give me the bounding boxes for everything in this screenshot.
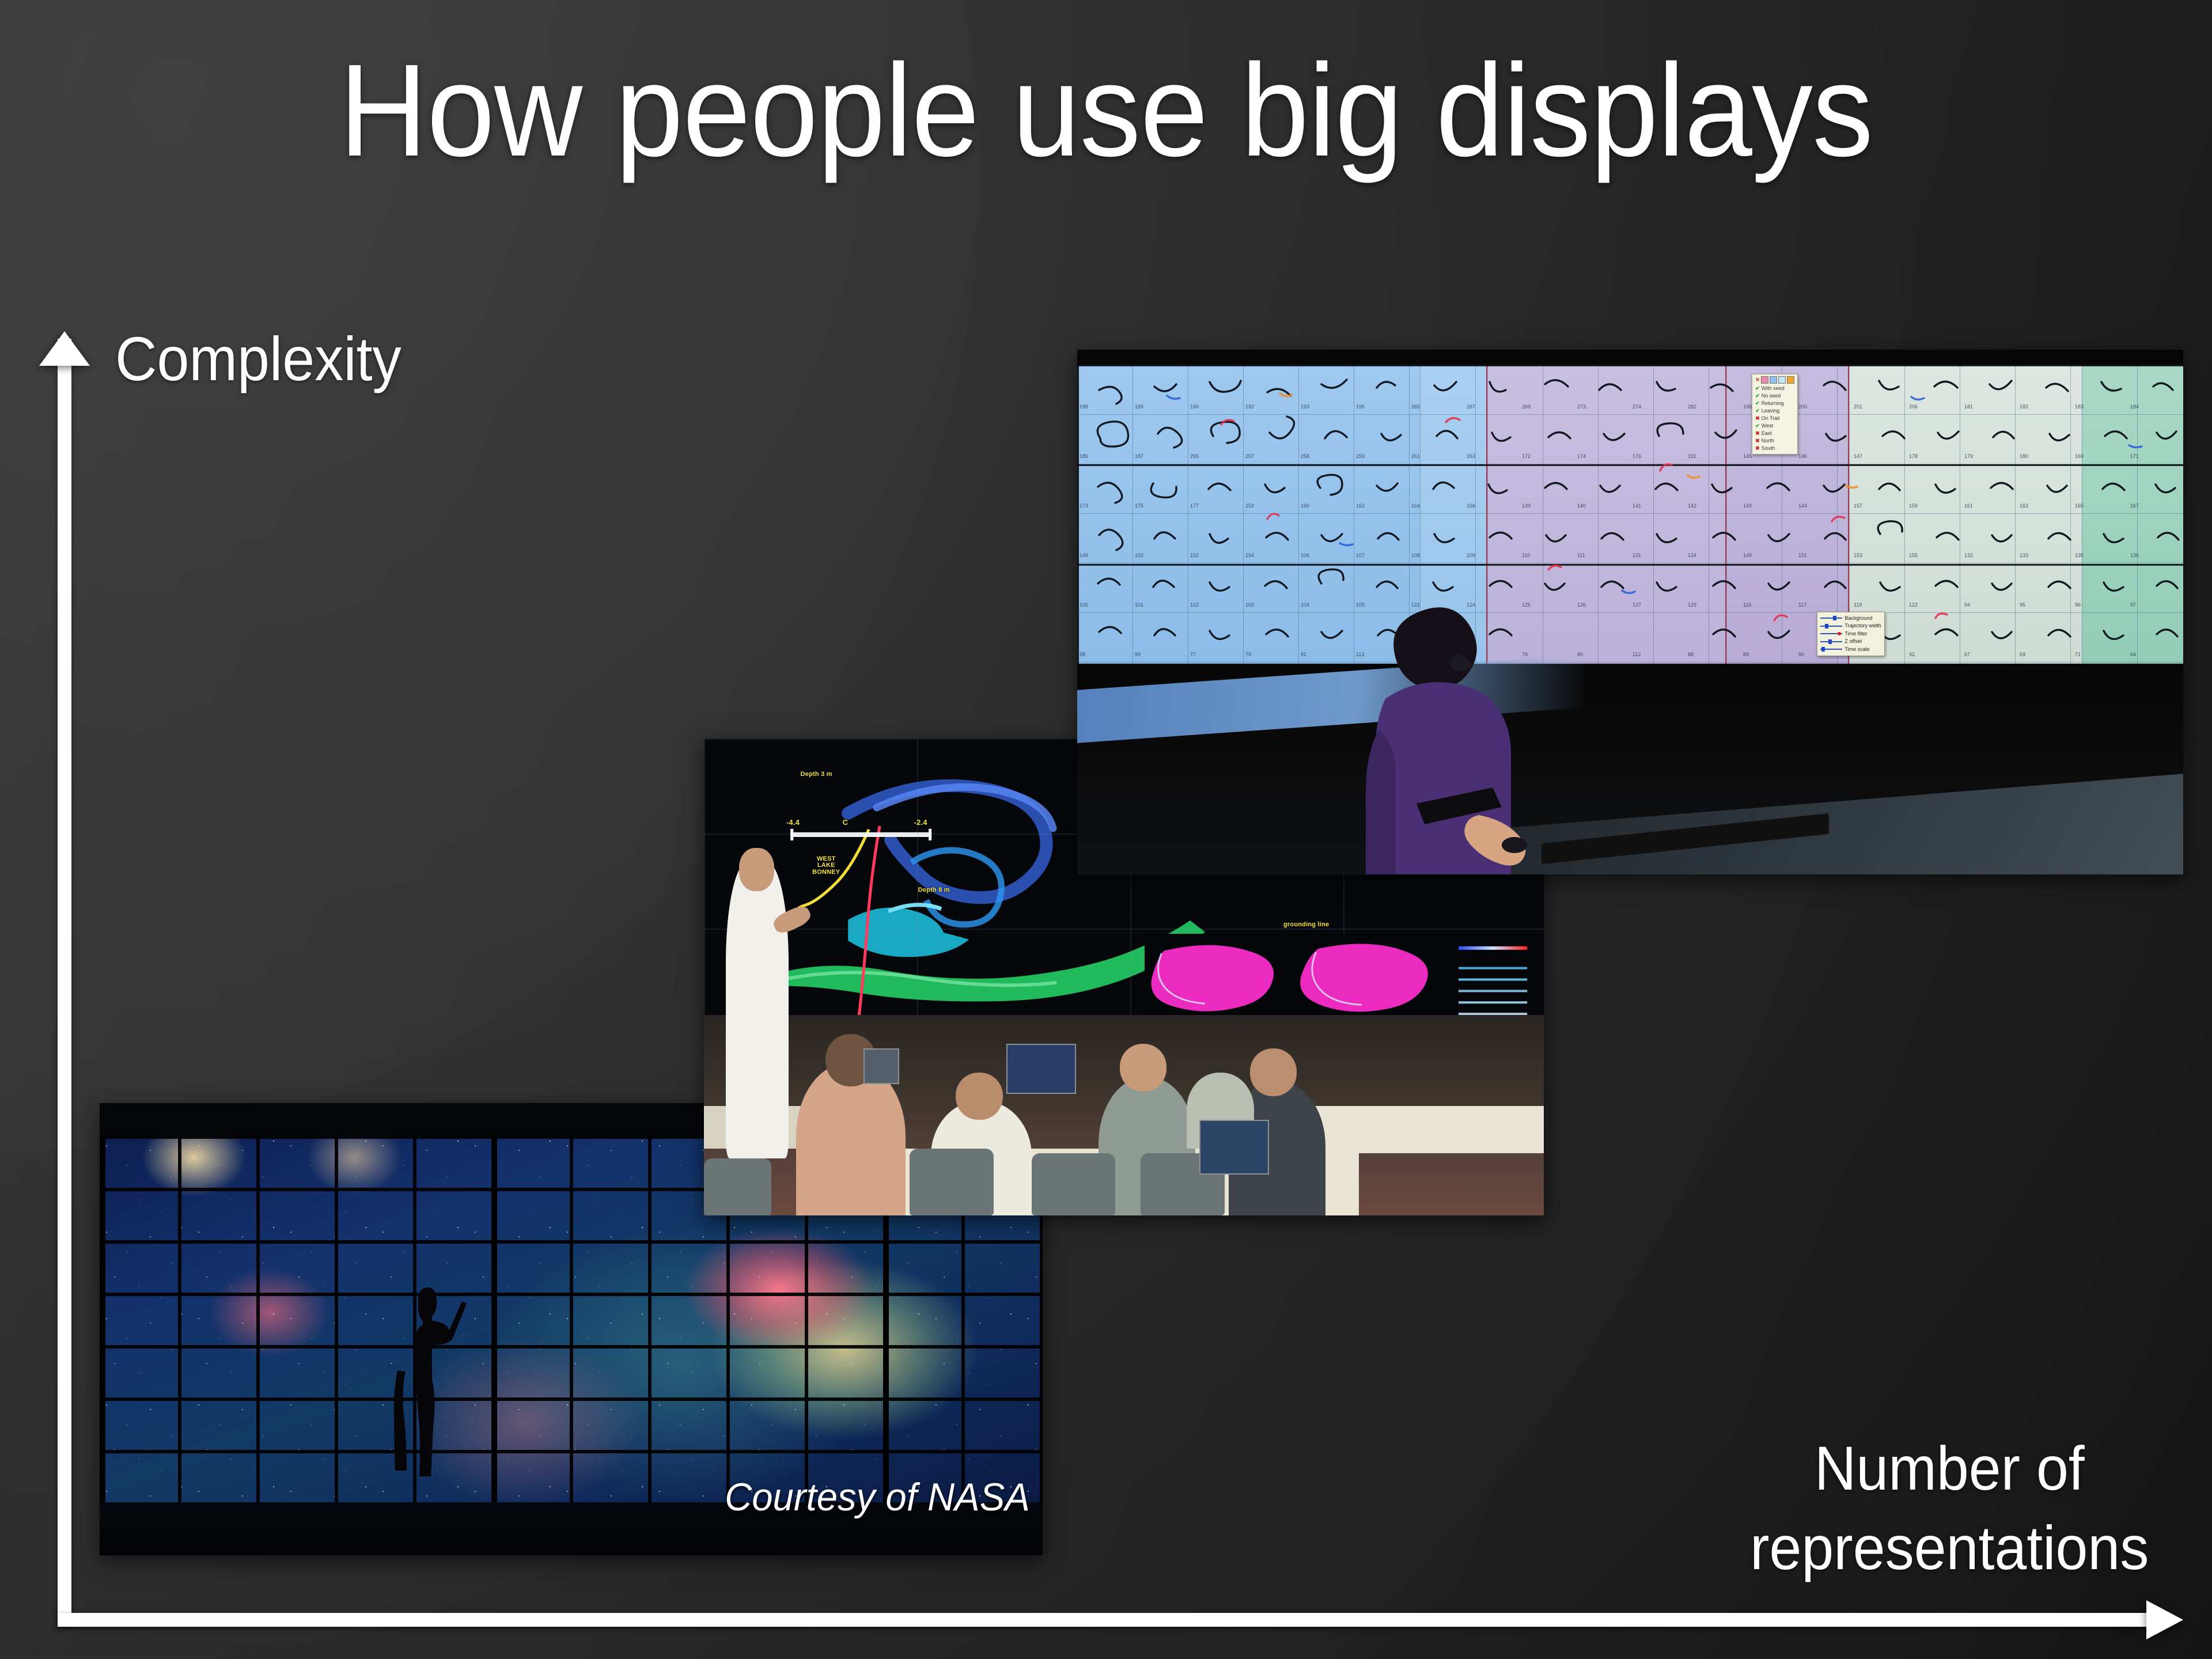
trajectory-cell-number: 132: [1964, 552, 1973, 558]
trajectory-cell-number: 269: [1522, 404, 1531, 410]
check-icon[interactable]: ✔: [1755, 407, 1760, 415]
trajectory-cell-number: 184: [2130, 404, 2139, 410]
trajectory-cell-number: 191: [1688, 453, 1696, 459]
check-icon[interactable]: ✔: [1755, 392, 1760, 400]
filter-item-label: East: [1762, 430, 1772, 437]
cross-icon[interactable]: ✖: [1755, 445, 1760, 452]
trajectory-wall-top-bezel: [1077, 350, 2183, 365]
trajectory-cell-number: 112: [1633, 652, 1641, 657]
filter-item-label: South: [1762, 445, 1775, 452]
slider-track-time-scale[interactable]: [1820, 649, 1842, 650]
control-room-chair-1: [910, 1149, 994, 1215]
x-axis-label-line1: Number of: [1750, 1429, 2149, 1508]
trajectory-cell-number: 146: [1798, 453, 1807, 459]
nasa-person-silhouette: [382, 1275, 469, 1528]
trajectory-cell-number: 108: [1411, 552, 1420, 558]
y-axis-label: Complexity: [115, 323, 402, 395]
filter-item[interactable]: ✔With seed: [1755, 385, 1794, 392]
slider-track-z-offset[interactable]: [1820, 641, 1842, 642]
trajectory-cell-number: 89: [1743, 652, 1749, 657]
trajectory-cell-number: 126: [1577, 602, 1586, 608]
trajectory-cell-number: 200: [1798, 404, 1807, 410]
control-room-monitor-1: [1006, 1044, 1076, 1094]
trajectory-cell-number: 188: [1080, 404, 1088, 410]
trajectory-cell-number: 164: [1411, 503, 1420, 509]
trajectory-cell-number: 135: [2075, 552, 2084, 558]
filter-item[interactable]: ✔Returning: [1755, 400, 1794, 407]
trajectory-cell-number: 119: [1854, 602, 1862, 608]
trajectory-cell-number: 267: [1467, 404, 1475, 410]
trajectory-cell-number: 257: [1245, 453, 1254, 459]
slider-row-time-scale[interactable]: Time scale: [1820, 646, 1881, 654]
trajectory-cell-number: 129: [1688, 602, 1696, 608]
trajectory-cell-number: 77: [1190, 652, 1196, 657]
trajectory-cell-number: 189: [1135, 404, 1143, 410]
trajectory-cell-number: 178: [1909, 453, 1918, 459]
trajectory-cell-number: 166: [1467, 503, 1475, 509]
filter-item-label: On Trail: [1762, 415, 1780, 422]
control-room-chair-4: [704, 1158, 771, 1215]
trajectory-cell-number: 172: [1522, 453, 1531, 459]
slider-label-time-filter: Time filter: [1844, 630, 1867, 638]
slide-title: How people use big displays: [77, 45, 2134, 176]
trajectory-cell-number: 253: [1245, 503, 1254, 509]
trajectory-cell-number: 201: [1854, 404, 1862, 410]
trajectory-cell-number: 157: [1854, 503, 1862, 509]
trajectory-cell-number: 147: [1854, 453, 1862, 459]
filter-swatch-orange[interactable]: [1787, 376, 1794, 384]
trajectory-cell-number: 177: [1190, 503, 1199, 509]
x-axis-label: Number of representations: [1750, 1429, 2149, 1588]
filter-swatch-lightblue[interactable]: [1778, 376, 1786, 384]
trajectory-cell-number: 181: [1964, 404, 1973, 410]
photo-trajectory-wall: 1881891901921931952652672692732742821982…: [1077, 350, 2183, 874]
trajectory-filter-panel: ✕ ✔With seed✔No seed✔Returning✔Leaving✖O…: [1752, 374, 1798, 454]
trajectory-cell-number: 142: [1688, 503, 1696, 509]
trajectory-cell-number: 186: [1080, 453, 1088, 459]
trajectory-cell-number: 100: [1080, 602, 1088, 608]
trajectory-cell-number: 88: [1688, 652, 1694, 657]
trajectory-cell-number: 136: [2130, 552, 2139, 558]
control-room-presenter-head: [739, 848, 774, 891]
trajectory-cell-number: 173: [1080, 503, 1088, 509]
y-axis-shaft: [58, 339, 71, 1626]
filter-swatch-pink[interactable]: [1761, 376, 1768, 384]
slider-row-z-offset[interactable]: Z offset: [1820, 638, 1881, 646]
filter-swatch-close-icon[interactable]: ✕: [1755, 376, 1760, 384]
filter-item-label: Returning: [1762, 400, 1784, 407]
trajectory-cell-number: 206: [1909, 404, 1918, 410]
trajectory-cell-number: 195: [1356, 404, 1365, 410]
trajectory-cell-number: 161: [1964, 503, 1973, 509]
slider-track-background[interactable]: [1820, 618, 1842, 619]
arrow-up-icon: [39, 331, 90, 366]
trajectory-cell-number: 127: [1633, 602, 1641, 608]
trajectory-cell-number: 103: [1245, 602, 1254, 608]
check-icon[interactable]: ✔: [1755, 400, 1760, 407]
slider-track-trajectory-width[interactable]: [1820, 626, 1842, 627]
trajectory-cell-number: 259: [1356, 453, 1365, 459]
trajectory-cell-number: 187: [1135, 453, 1143, 459]
trajectory-cell-number: 81: [1301, 652, 1306, 657]
trajectory-cell-number: 92: [1909, 652, 1915, 657]
slider-label-time-scale: Time scale: [1844, 646, 1869, 654]
control-room-person-4-head: [1250, 1048, 1297, 1096]
slide-root: How people use big displays Complexity N…: [0, 0, 2212, 1659]
trajectory-cell-number: 104: [1301, 602, 1309, 608]
trajectory-cell-number: 192: [1245, 404, 1254, 410]
arrow-right-icon: [2146, 1600, 2183, 1639]
trajectory-cell-number: 174: [1577, 453, 1586, 459]
filter-swatch-blue[interactable]: [1770, 376, 1777, 384]
trajectory-cell-number: 198: [1743, 404, 1752, 410]
trajectory-cell-number: 110: [1522, 552, 1530, 558]
trajectory-cell-number: 97: [2130, 602, 2136, 608]
trajectory-cell-number: 64: [2130, 652, 2136, 657]
trajectory-cell-number: 167: [2130, 503, 2139, 509]
trajectory-cell-number: 133: [2020, 552, 2028, 558]
trajectory-cell-number: 150: [1135, 552, 1143, 558]
slider-track-time-filter[interactable]: [1820, 633, 1842, 634]
trajectory-cell-number: 183: [2075, 404, 2084, 410]
control-room-presenter-body: [726, 862, 789, 1158]
filter-item-label: No seed: [1762, 392, 1781, 400]
trajectory-cell-number: 131: [1633, 552, 1641, 558]
check-icon[interactable]: ✔: [1755, 385, 1760, 392]
filter-item[interactable]: ✔No seed: [1755, 392, 1794, 400]
trajectory-cell-number: 282: [1688, 404, 1696, 410]
trajectory-cell-number: 258: [1301, 453, 1309, 459]
filter-item-label: North: [1762, 437, 1774, 445]
trajectory-cell-number: 90: [1798, 652, 1804, 657]
trajectory-cell-number: 149: [1743, 552, 1752, 558]
trajectory-cell-number: 111: [1577, 552, 1585, 558]
control-room-person-2-head: [956, 1073, 1003, 1120]
trajectory-cell-number: 117: [1798, 602, 1806, 608]
trajectory-cell-number: 159: [1909, 503, 1918, 509]
trajectory-paths: [1077, 365, 2183, 664]
control-room-person-3-head: [1120, 1044, 1167, 1092]
trajectory-cell-number: 71: [2075, 652, 2081, 657]
trajectory-cell-number: 154: [1245, 552, 1254, 558]
filter-item-label: With seed: [1762, 385, 1785, 392]
trajectory-cell-number: 265: [1411, 404, 1420, 410]
filter-item[interactable]: ✖East: [1755, 430, 1794, 437]
trajectory-cell-number: 107: [1356, 552, 1365, 558]
control-room-chair-2: [1032, 1153, 1116, 1215]
trajectory-cell-number: 155: [1909, 552, 1918, 558]
slider-label-trajectory-width: Trajectory width: [1844, 622, 1881, 630]
trajectory-cell-number: 169: [2075, 453, 2084, 459]
trajectory-cell-number: 79: [1245, 652, 1251, 657]
trajectory-cell-number: 140: [1577, 503, 1586, 509]
filter-item[interactable]: ✔Leaving: [1755, 407, 1794, 415]
trajectory-cell-number: 145: [1743, 453, 1752, 459]
trajectory-cell-number: 162: [1356, 503, 1365, 509]
slider-row-trajectory-width[interactable]: Trajectory width: [1820, 622, 1881, 630]
x-axis-label-line2: representations: [1750, 1508, 2149, 1588]
filter-item[interactable]: ✔West: [1755, 422, 1794, 430]
trajectory-cell-number: 141: [1633, 503, 1641, 509]
trajectory-cell-number: 109: [1467, 552, 1475, 558]
trajectory-cell-number: 152: [1190, 552, 1199, 558]
trajectory-cell-number: 151: [1798, 552, 1807, 558]
trajectory-cell-number: 106: [1301, 552, 1309, 558]
trajectory-cell-number: 69: [2020, 652, 2025, 657]
trajectory-cell-number: 261: [1411, 453, 1420, 459]
trajectory-cell-number: 163: [2020, 503, 2028, 509]
trajectory-cell-number: 139: [1522, 503, 1531, 509]
control-room-monitor-2: [863, 1048, 899, 1084]
trajectory-cell-number: 273: [1577, 404, 1586, 410]
cross-icon[interactable]: ✖: [1755, 415, 1760, 422]
check-icon[interactable]: ✔: [1755, 422, 1760, 430]
trajectory-cell-number: 179: [1964, 453, 1973, 459]
trajectory-cell-number: 190: [1190, 404, 1199, 410]
trajectory-cell-number: 67: [1964, 652, 1970, 657]
trajectory-cell-number: 101: [1135, 602, 1143, 608]
slider-row-time-filter[interactable]: Time filter: [1820, 630, 1881, 638]
filter-item-label: West: [1762, 422, 1773, 430]
cross-icon[interactable]: ✖: [1755, 437, 1760, 445]
filter-item[interactable]: ✖On Trail: [1755, 415, 1794, 422]
trajectory-cell-number: 263: [1467, 453, 1475, 459]
trajectory-cell-number: 176: [1633, 453, 1641, 459]
trajectory-wall-screens: 1881891901921931952652672692732742821982…: [1077, 365, 2183, 664]
trajectory-cell-number: 144: [1798, 503, 1807, 509]
filter-swatches: ✕: [1755, 376, 1794, 384]
slider-label-z-offset: Z offset: [1844, 638, 1862, 646]
nasa-caption: Courtesy of NASA: [725, 1475, 1030, 1520]
filter-item[interactable]: ✖South: [1755, 445, 1794, 452]
trajectory-cell-number: 180: [2020, 453, 2028, 459]
trajectory-cell-number: 102: [1190, 602, 1199, 608]
filter-item[interactable]: ✖North: [1755, 437, 1794, 445]
trajectory-cell-number: 134: [1688, 552, 1696, 558]
x-axis-shaft: [58, 1613, 2154, 1627]
trajectory-cell-number: 116: [1743, 602, 1751, 608]
trajectory-cell-number: 98: [1080, 652, 1085, 657]
control-room-laptop-1: [1199, 1120, 1269, 1175]
trajectory-cell-number: 255: [1190, 453, 1199, 459]
trajectory-cell-number: 96: [2075, 602, 2081, 608]
trajectory-cell-number: 122: [1909, 602, 1918, 608]
trajectory-cell-number: 175: [1135, 503, 1143, 509]
trajectory-cell-number: 171: [2130, 453, 2139, 459]
trajectory-slider-panel: Background Trajectory width Time filter …: [1817, 612, 1884, 657]
trajectory-cell-number: 182: [2020, 404, 2028, 410]
filter-items: ✔With seed✔No seed✔Returning✔Leaving✖On …: [1755, 385, 1794, 452]
slider-row-background[interactable]: Background: [1820, 615, 1881, 623]
trajectory-cell-number: 143: [1743, 503, 1752, 509]
filter-item-label: Leaving: [1762, 407, 1780, 415]
trajectory-cell-number: 95: [2020, 602, 2025, 608]
trajectory-cell-number: 153: [1854, 552, 1862, 558]
trajectory-cell-number: 193: [1301, 404, 1309, 410]
trajectory-cell-number: 148: [1080, 552, 1088, 558]
trajectory-cell-number: 94: [1964, 602, 1970, 608]
slider-label-background: Background: [1844, 615, 1872, 623]
trajectory-cell-number: 165: [2075, 503, 2084, 509]
trajectory-cell-number: 99: [1135, 652, 1141, 657]
trajectory-wall-user: [1343, 597, 1533, 874]
cross-icon[interactable]: ✖: [1755, 430, 1760, 437]
trajectory-cell-number: 274: [1633, 404, 1641, 410]
trajectory-cell-number: 160: [1301, 503, 1309, 509]
